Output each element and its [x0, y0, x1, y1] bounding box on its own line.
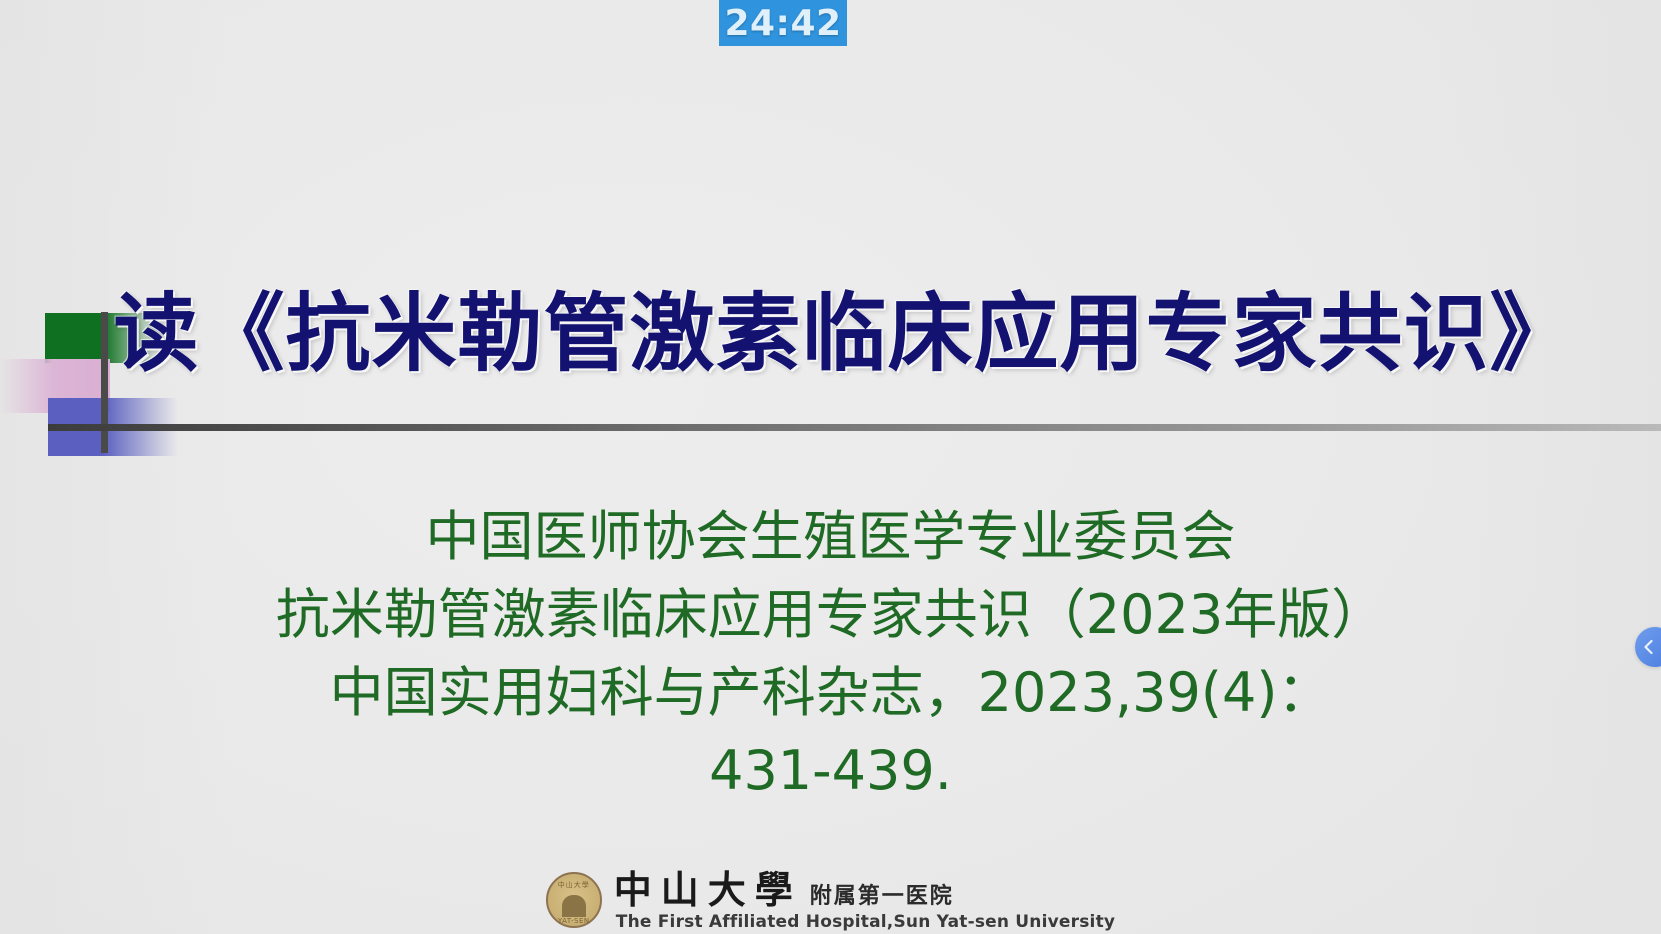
horizontal-rule-divider — [48, 424, 1661, 431]
presentation-slide: 读《抗米勒管激素临床应用专家共识》 中国医师协会生殖医学专业委员会 抗米勒管激素… — [0, 0, 1661, 934]
chevron-left-icon — [1642, 639, 1656, 655]
slide-body-line-4: 431-439. — [0, 732, 1661, 810]
seal-bottom-text: YAT-SEN — [558, 917, 590, 925]
seal-arch-shape — [562, 895, 586, 917]
slide-body-line-1: 中国医师协会生殖医学专业委员会 — [0, 498, 1661, 576]
video-player-screen: 读《抗米勒管激素临床应用专家共识》 中国医师协会生殖医学专业委员会 抗米勒管激素… — [0, 0, 1661, 934]
slide-body-line-3: 中国实用妇科与产科杂志，2023,39(4)： — [0, 654, 1661, 732]
logo-university-name: 中山大學 — [614, 871, 802, 911]
playback-timer: 24:42 — [719, 0, 847, 46]
logo-wordmark: 中山大學 附属第一医院 The First Affiliated Hospita… — [614, 871, 1115, 932]
logo-hospital-name: 附属第一医院 — [810, 885, 954, 908]
university-seal-icon: 中山大學 YAT-SEN — [546, 872, 602, 928]
slide-body: 中国医师协会生殖医学专业委员会 抗米勒管激素临床应用专家共识（2023年版） 中… — [0, 498, 1661, 810]
seal-top-text: 中山大學 — [558, 880, 590, 890]
slide-title: 读《抗米勒管激素临床应用专家共识》 — [0, 292, 1661, 377]
institution-logo: 中山大學 YAT-SEN 中山大學 附属第一医院 The First Affil… — [0, 871, 1661, 932]
logo-chinese-row: 中山大學 附属第一医院 — [614, 871, 954, 911]
logo-english-name: The First Affiliated Hospital,Sun Yat-se… — [616, 912, 1115, 932]
slide-body-line-2: 抗米勒管激素临床应用专家共识（2023年版） — [0, 576, 1661, 654]
